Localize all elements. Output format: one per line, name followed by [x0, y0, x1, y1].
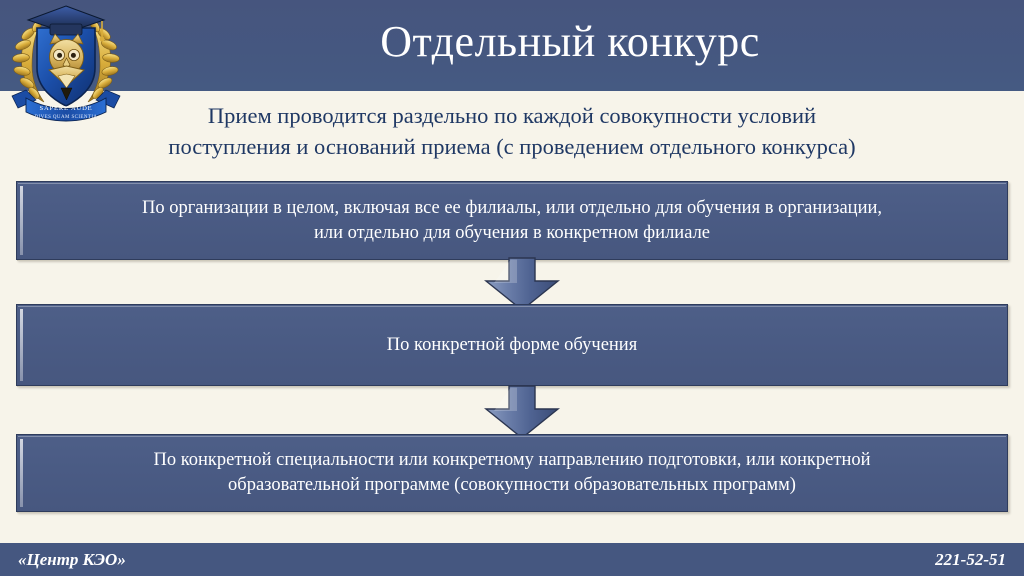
flow-box-study-form[interactable]: По конкретной форме обучения — [16, 304, 1008, 386]
slide-canvas: SAPERE AUDE DIVES QUAM SCIENTIA Отдельны… — [0, 0, 1024, 576]
subtitle-line-2: поступления и оснований приема (с провед… — [92, 131, 932, 162]
flow-box-organization[interactable]: По организации в целом, включая все ее ф… — [16, 181, 1008, 260]
flow-box-1-line-1: По организации в целом, включая все ее ф… — [142, 196, 882, 221]
arrow-down-icon — [484, 385, 560, 439]
flow-box-1-line-2: или отдельно для обучения в конкретном ф… — [142, 221, 882, 246]
flow-box-3-line-2: образовательной программе (совокупности … — [154, 473, 871, 498]
svg-text:DIVES QUAM SCIENTIA: DIVES QUAM SCIENTIA — [35, 115, 98, 120]
flow-box-study-form-text: По конкретной форме обучения — [371, 333, 653, 358]
footer-phone: 221-52-51 — [935, 550, 1006, 570]
flow-box-3-line-1: По конкретной специальности или конкретн… — [154, 448, 871, 473]
svg-text:SAPERE AUDE: SAPERE AUDE — [40, 105, 93, 112]
flow-box-organization-text: По организации в целом, включая все ее ф… — [126, 196, 898, 246]
footer-band: «Центр КЭО» 221-52-51 — [0, 543, 1024, 576]
slide-subtitle: Прием проводится раздельно по каждой сов… — [92, 100, 932, 162]
slide-title: Отдельный конкурс — [130, 14, 1010, 70]
footer-organization: «Центр КЭО» — [18, 550, 126, 570]
flow-box-2-line-1: По конкретной форме обучения — [387, 333, 637, 358]
subtitle-line-1: Прием проводится раздельно по каждой сов… — [92, 100, 932, 131]
flow-box-specialty-program[interactable]: По конкретной специальности или конкретн… — [16, 434, 1008, 512]
arrow-down-icon — [484, 257, 560, 311]
flow-box-specialty-program-text: По конкретной специальности или конкретн… — [138, 448, 887, 498]
